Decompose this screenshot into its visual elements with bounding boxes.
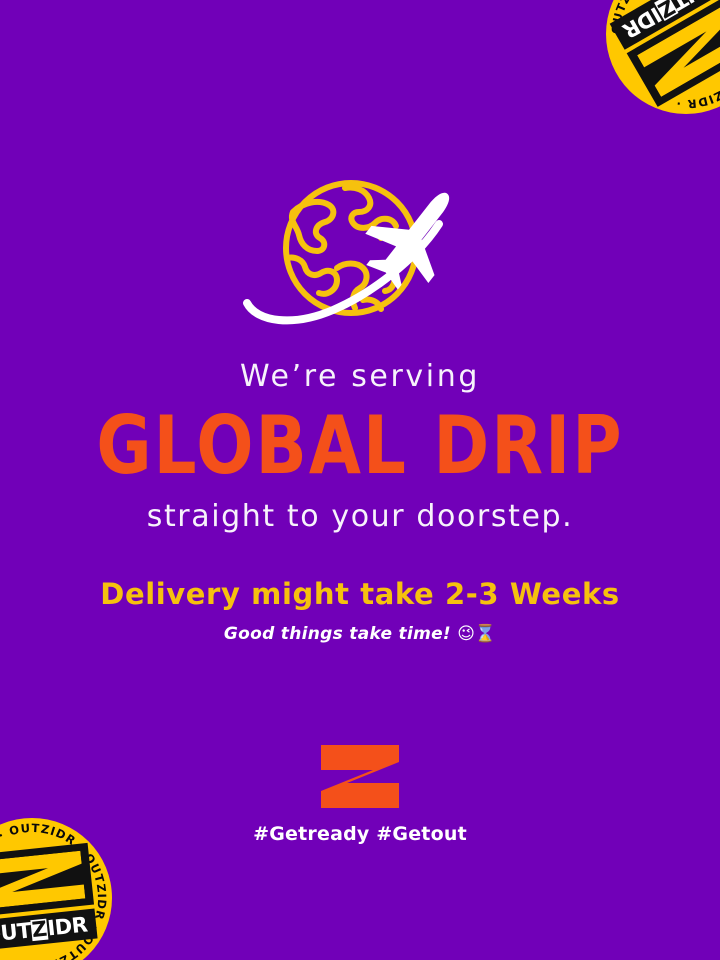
badge-wordmark-prefix-bl: OUT xyxy=(0,920,32,946)
page-title: GLOBAL DRIP xyxy=(0,406,720,487)
badge-z-box-bl xyxy=(0,843,94,917)
badge-z-icon-bl xyxy=(0,851,85,910)
delivery-tagline-emoji: 😉⌛ xyxy=(457,624,496,644)
subtitle-text: straight to your doorstep. xyxy=(0,502,720,532)
headline-block: We’re serving GLOBAL DRIP straight to yo… xyxy=(0,362,720,643)
delivery-tagline-text: Good things take time! xyxy=(224,624,451,644)
brand-z-logo-icon xyxy=(321,745,399,808)
delivery-notice: Delivery might take 2-3 Weeks xyxy=(0,580,720,609)
outzidr-badge-bottom-left: OUTZIDR · OUTZIDR · OUTZIDR · OUTZIDR · … xyxy=(0,818,112,960)
badge-emblem-bl: OUTZIDR xyxy=(0,843,98,953)
delivery-tagline: Good things take time! 😉⌛ xyxy=(0,626,720,643)
globe-with-airplane-icon xyxy=(241,172,479,340)
outzidr-badge-top-right: OUTZIDR · OUTZIDR · OUTZIDR · OUTZIDR · … xyxy=(606,0,720,114)
poster-canvas: OUTZIDR · OUTZIDR · OUTZIDR · OUTZIDR · … xyxy=(0,0,720,960)
eyebrow-text: We’re serving xyxy=(0,362,720,392)
badge-wordmark-suffix-bl: IDR xyxy=(46,914,88,939)
